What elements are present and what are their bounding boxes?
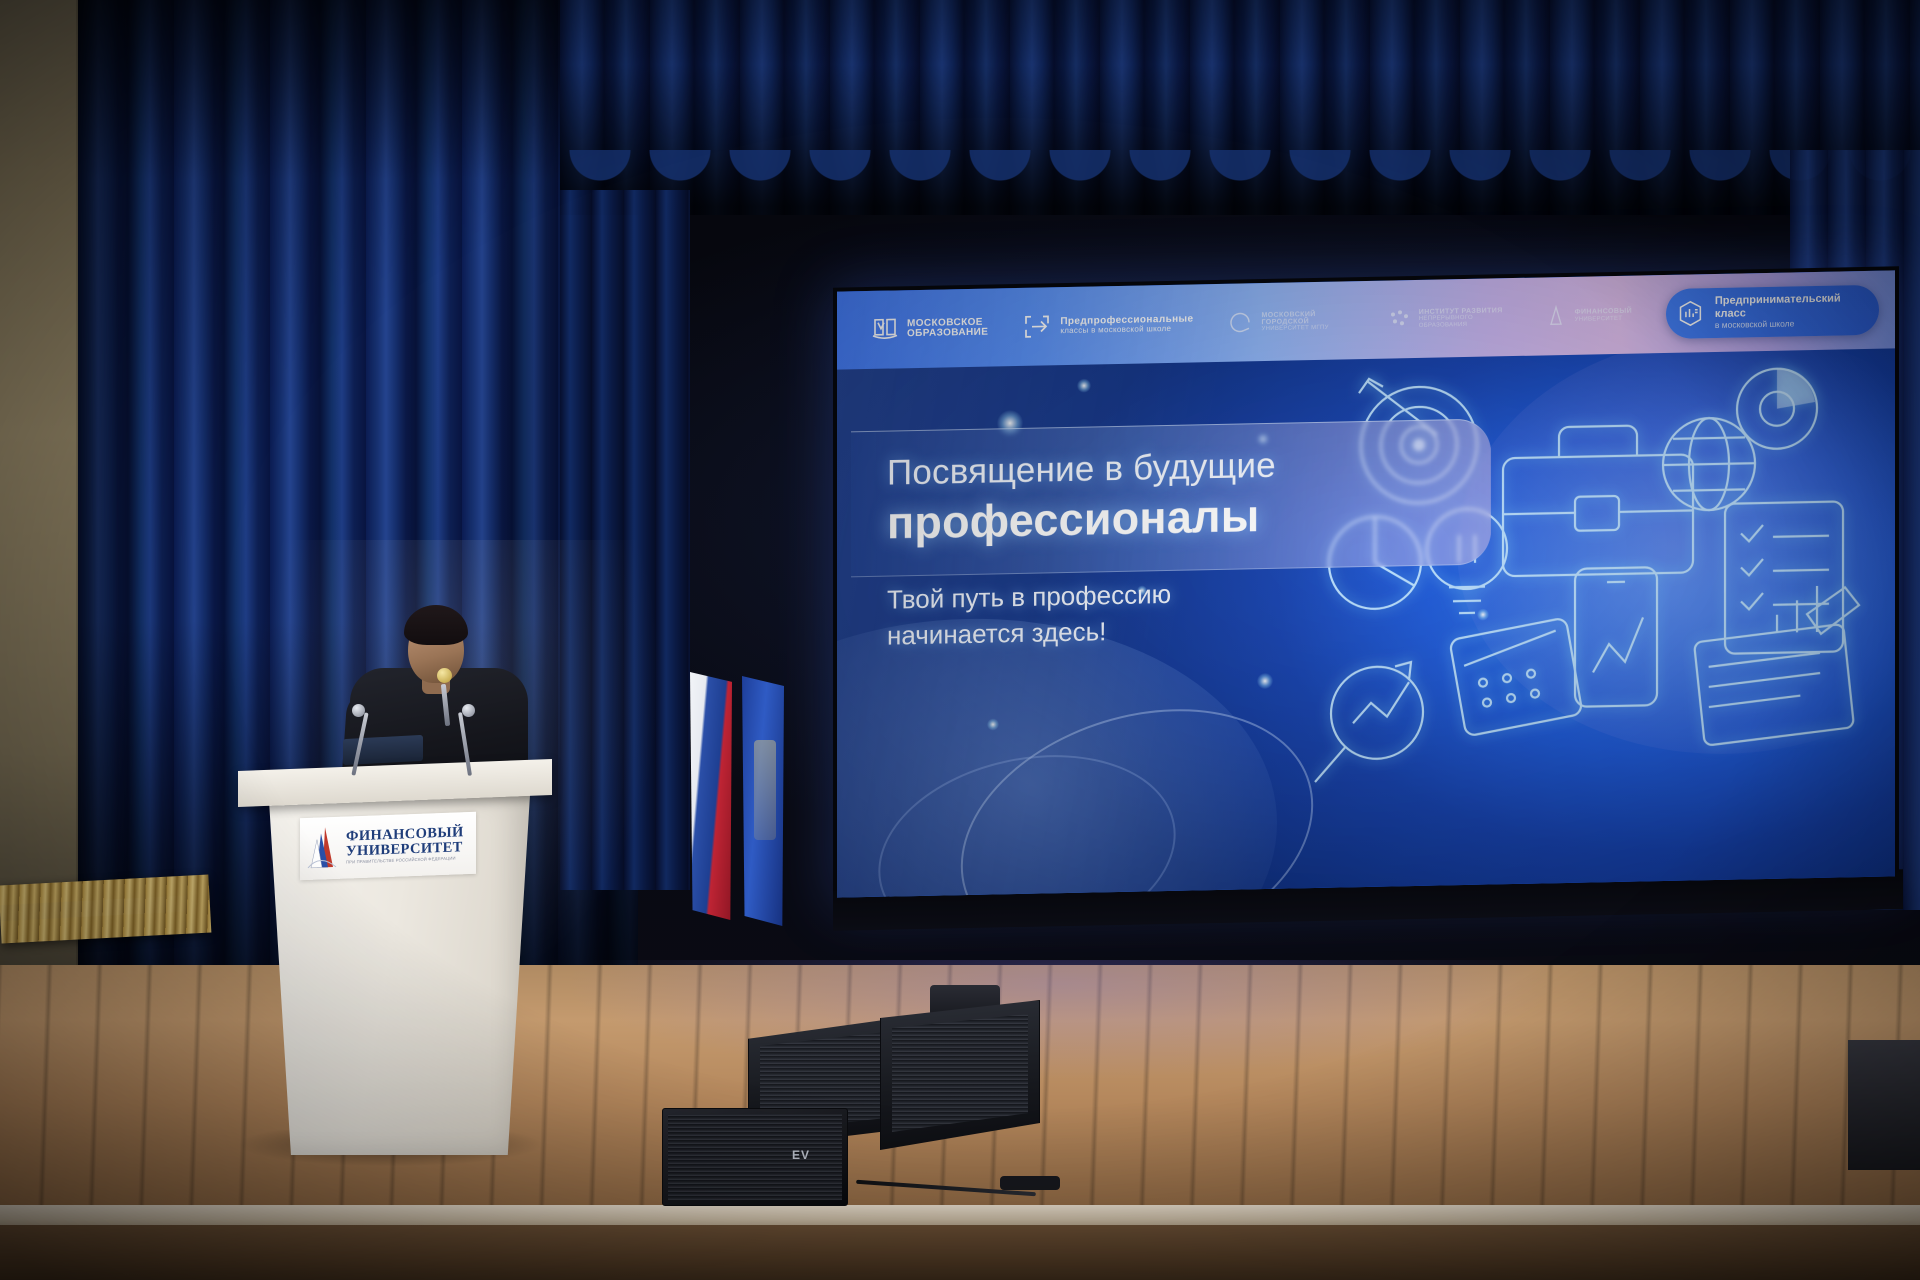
hexagon-chart-ruble-icon bbox=[1676, 297, 1705, 330]
badge-label: Предпринимательский класс в московской ш… bbox=[1715, 293, 1859, 331]
slide-ring-small bbox=[863, 731, 1191, 898]
microphone-head-right bbox=[462, 704, 475, 717]
led-screen: МОСКОВСКОЕ ОБРАЗОВАНИЕ Предпрофессиональ… bbox=[837, 270, 1895, 897]
entrepreneurial-class-badge: Предпринимательский класс в московской ш… bbox=[1666, 285, 1879, 338]
logo-mgpu: МОСКОВСКИЙ ГОРОДСКОЙ УНИВЕРСИТЕТ МГПУ bbox=[1227, 307, 1352, 336]
logo-label: МОСКОВСКИЙ ГОРОДСКОЙ УНИВЕРСИТЕТ МГПУ bbox=[1261, 310, 1352, 333]
stage-scene: МОСКОВСКОЕ ОБРАЗОВАНИЕ Предпрофессиональ… bbox=[0, 0, 1920, 1280]
notebook-pen-icon bbox=[1694, 587, 1859, 746]
cable-connector bbox=[1000, 1176, 1060, 1190]
headline-line-2: профессионалы bbox=[887, 486, 1457, 549]
logo-label: МОСКОВСКОЕ ОБРАЗОВАНИЕ bbox=[907, 317, 988, 340]
logo-financial-university: ФИНАНСОВЫЙ УНИВЕРСИТЕТ bbox=[1545, 303, 1632, 329]
sparkle-dot bbox=[1257, 673, 1273, 689]
microphone-head-left bbox=[352, 704, 365, 717]
stage-curtain-middle bbox=[560, 190, 690, 890]
sparkle-dot bbox=[1077, 379, 1091, 393]
finuniver-icon bbox=[1545, 304, 1567, 328]
headline-line-1: Посвящение в будущие bbox=[887, 442, 1457, 493]
stage-apron bbox=[0, 1225, 1920, 1280]
flag-emblem bbox=[754, 740, 776, 840]
magnifier-growth-arrow-icon bbox=[1315, 662, 1423, 782]
logo-label: ФИНАНСОВЫЙ УНИВЕРСИТЕТ bbox=[1575, 308, 1632, 323]
calculator-icon bbox=[1449, 617, 1582, 737]
logo-label: Предпрофессиональные классы в московской… bbox=[1060, 314, 1193, 336]
dot-grid-icon bbox=[1387, 307, 1411, 331]
finuniver-spire-icon bbox=[306, 823, 340, 874]
logo-moscow-education: МОСКОВСКОЕ ОБРАЗОВАНИЕ bbox=[871, 315, 988, 343]
open-book-m-icon bbox=[871, 316, 899, 343]
stage-floor-light-pool bbox=[560, 960, 1560, 1080]
briefcase-icon bbox=[1503, 424, 1693, 576]
gold-rope-trim bbox=[0, 875, 211, 944]
sparkle-dot bbox=[987, 718, 999, 730]
logo-preprofessional-classes: Предпрофессиональные классы в московской… bbox=[1022, 309, 1193, 340]
logo-institute-development: ИНСТИТУТ РАЗВИТИЯ НЕПРЕРЫВНОГО ОБРАЗОВАН… bbox=[1387, 305, 1511, 331]
smartphone-chart-icon bbox=[1575, 567, 1657, 707]
podium-plaque: ФИНАНСОВЫЙ УНИВЕРСИТЕТ ПРИ ПРАВИТЕЛЬСТВЕ… bbox=[300, 812, 476, 880]
right-edge-equipment bbox=[1848, 1040, 1920, 1170]
slide-subtitle: Твой путь в профессию начинается здесь! bbox=[887, 572, 1407, 654]
subwoofer-grill bbox=[668, 1114, 842, 1200]
hexagon-arrow-icon bbox=[1022, 312, 1052, 341]
circle-swirl-icon bbox=[1227, 309, 1253, 336]
slide-headline-pill: Посвящение в будущие профессионалы bbox=[851, 418, 1491, 577]
slide-glow-blue bbox=[837, 613, 1277, 898]
curtain-scallop-trim bbox=[560, 150, 1920, 240]
russian-flag bbox=[690, 672, 732, 920]
subwoofer-brand-logo: EV bbox=[792, 1148, 810, 1162]
donut-chart-icon bbox=[1737, 368, 1817, 450]
slide-ring-large bbox=[931, 668, 1343, 898]
globe-network-icon bbox=[1663, 417, 1755, 511]
plaque-text: ФИНАНСОВЫЙ УНИВЕРСИТЕТ ПРИ ПРАВИТЕЛЬСТВЕ… bbox=[346, 826, 464, 866]
logo-label: ИНСТИТУТ РАЗВИТИЯ НЕПРЕРЫВНОГО ОБРАЗОВАН… bbox=[1419, 307, 1511, 329]
left-wall-panel bbox=[0, 0, 86, 965]
handheld-microphone-head bbox=[437, 668, 452, 683]
stage-monitor-grill-right bbox=[892, 1014, 1028, 1132]
